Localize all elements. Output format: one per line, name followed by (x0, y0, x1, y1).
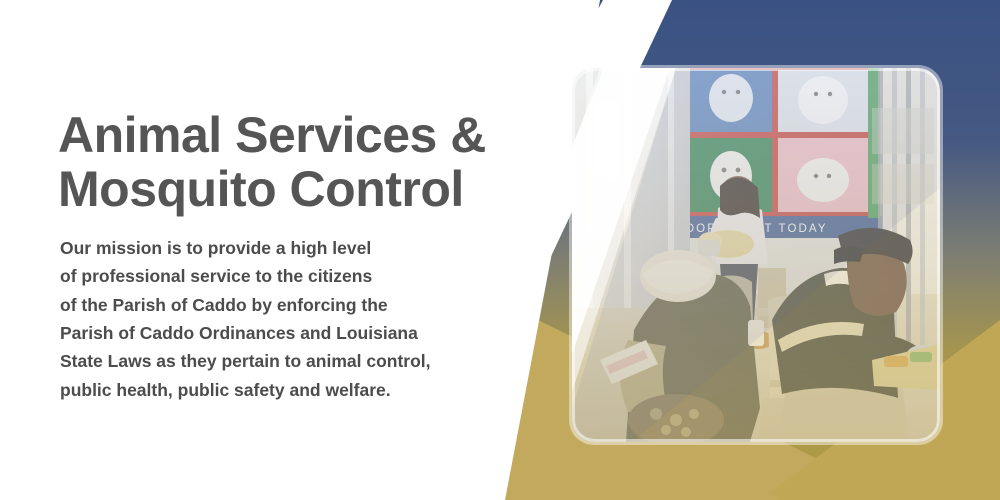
animal-services-banner: ADOPT A PET TODAY PT A PET TODA (0, 0, 1000, 500)
shelter-photo-card: ADOPT A PET TODAY PT A PET TODA (572, 68, 940, 442)
page-title: Animal Services & Mosquito Control (58, 108, 528, 216)
photo-veil (572, 68, 940, 442)
shelter-photo: ADOPT A PET TODAY PT A PET TODA (572, 68, 940, 442)
text-column: Animal Services & Mosquito Control Our m… (58, 108, 528, 404)
mission-statement: Our mission is to provide a high level o… (60, 234, 528, 404)
